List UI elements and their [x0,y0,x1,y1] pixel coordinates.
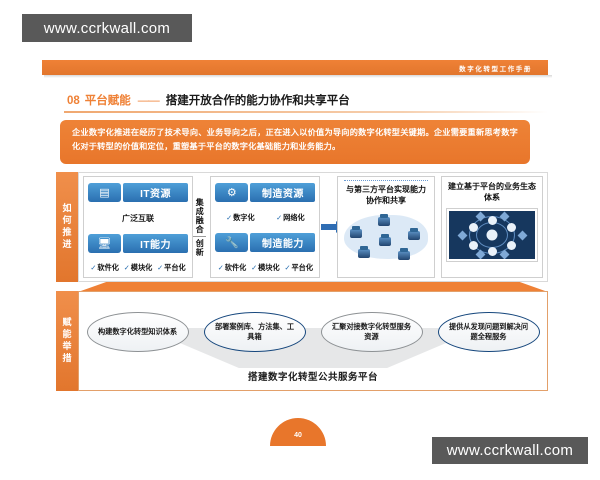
tag-item: ✓网络化 [276,213,305,223]
intro-panel: 企业数字化推进在经历了技术导向、业务导向之后，正在进入以价值为导向的数字化转型关… [60,120,530,164]
lower-side-label: 赋能举措 [61,317,74,365]
page-title: 08 平台赋能 —— 搭建开放合作的能力协作和共享平台 [67,92,350,108]
card-manufacturing-resource: ⚙ 制造资源 [215,183,315,202]
ecosystem-hub-illustration [449,211,535,259]
card-manufacturing-capability-label: 制造能力 [250,233,315,252]
fusion-top-label: 集成融合 [194,198,205,234]
watermark-bottom: www.ccrkwall.com [432,437,588,464]
divider-line [193,236,206,237]
lower-side-tab: 赋能举措 [56,291,78,391]
tag-item: ✓平台化 [157,263,186,273]
card-it-capability-label: IT能力 [123,234,188,253]
panel-third-party: 与第三方平台实现能力协作和共享 [337,176,435,278]
it-middle-text: 广泛互联 [88,210,188,225]
network-collaboration-illustration [338,211,434,263]
upper-diagram-block: 如何推进 ▤ IT资源 广泛互联 🖥 IT能力 ✓软件化 ✓模块化 ✓平台化 [56,172,548,282]
measure-ellipse-3[interactable]: 汇聚对接数字化转型服务资源 [321,312,423,352]
tag-item: ✓平台化 [284,263,313,273]
upper-side-label: 如何推进 [61,203,74,251]
server-icon: ▤ [88,183,121,202]
measure-ellipse-list: 构建数字化转型知识体系 部署案例库、方法集、工具箱 汇聚对接数字化转型服务资源 … [79,312,547,352]
computer-icon: 🖥 [88,234,121,253]
wrench-icon: 🔧 [215,233,248,252]
title-dash: —— [138,95,159,107]
tag-item: ✓模块化 [124,263,153,273]
card-manufacturing-resource-label: 制造资源 [250,183,315,202]
card-it-resource-label: IT资源 [123,183,188,202]
title-main: 搭建开放合作的能力协作和共享平台 [166,92,350,108]
title-keyword: 平台赋能 [85,92,131,108]
card-manufacturing-capability: 🔧 制造能力 [215,233,315,252]
capability-column-it: ▤ IT资源 广泛互联 🖥 IT能力 ✓软件化 ✓模块化 ✓平台化 [83,176,193,278]
upper-side-tab: 如何推进 [56,172,78,282]
tag-item: ✓数字化 [226,213,255,223]
slide-page: 数字化转型工作手册 08 平台赋能 —— 搭建开放合作的能力协作和共享平台 企业… [42,48,558,426]
manufacturing-resource-tags: ✓数字化 ✓网络化 [215,211,315,223]
card-it-capability: 🖥 IT能力 [88,234,188,253]
watermark-top: www.ccrkwall.com [22,14,192,42]
capability-column-manufacturing: ⚙ 制造资源 ✓数字化 ✓网络化 🔧 制造能力 ✓软件化 ✓模块化 ✓平台化 [210,176,320,278]
measure-ellipse-2[interactable]: 部署案例库、方法集、工具箱 [204,312,306,352]
lower-measures-block: 赋能举措 构建数字化转型知识体系 部署案例库、方法集、工具箱 汇聚对接数字化转型… [56,291,548,391]
lower-caption: 搭建数字化转型公共服务平台 [79,369,547,383]
intro-text: 企业数字化推进在经历了技术导向、业务导向之后，正在进入以价值为导向的数字化转型关… [72,126,518,155]
header-bar: 数字化转型工作手册 [42,60,548,75]
tag-item: ✓模块化 [251,263,280,273]
ecosystem-frame [446,208,538,262]
card-it-resource: ▤ IT资源 [88,183,188,202]
header-book-title: 数字化转型工作手册 [459,63,532,73]
gear-icon: ⚙ [215,183,248,202]
fusion-bottom-label: 创新 [194,239,205,257]
arrow-right-icon [320,173,337,281]
it-capability-tags: ✓软件化 ✓模块化 ✓平台化 [88,261,188,273]
tag-item: ✓软件化 [218,263,247,273]
manufacturing-capability-tags: ✓软件化 ✓模块化 ✓平台化 [215,261,315,273]
lower-body: 构建数字化转型知识体系 部署案例库、方法集、工具箱 汇聚对接数字化转型服务资源 … [78,291,548,391]
measure-ellipse-4[interactable]: 提供从发现问题到解决问题全程服务 [438,312,540,352]
fusion-divider: 集成融合 创新 [193,176,206,278]
panel-ecosystem-caption: 建立基于平台的业务生态体系 [446,182,538,204]
tag-item: ✓软件化 [90,263,119,273]
upper-diagram-body: ▤ IT资源 广泛互联 🖥 IT能力 ✓软件化 ✓模块化 ✓平台化 集成融合 [78,172,548,282]
title-underline [64,111,548,113]
title-number: 08 [67,95,80,107]
measure-ellipse-1[interactable]: 构建数字化转型知识体系 [87,312,189,352]
header-shadow [44,75,552,78]
panel-third-party-caption: 与第三方平台实现能力协作和共享 [338,181,434,209]
dashed-line [344,180,428,181]
panel-ecosystem: 建立基于平台的业务生态体系 [441,176,543,278]
